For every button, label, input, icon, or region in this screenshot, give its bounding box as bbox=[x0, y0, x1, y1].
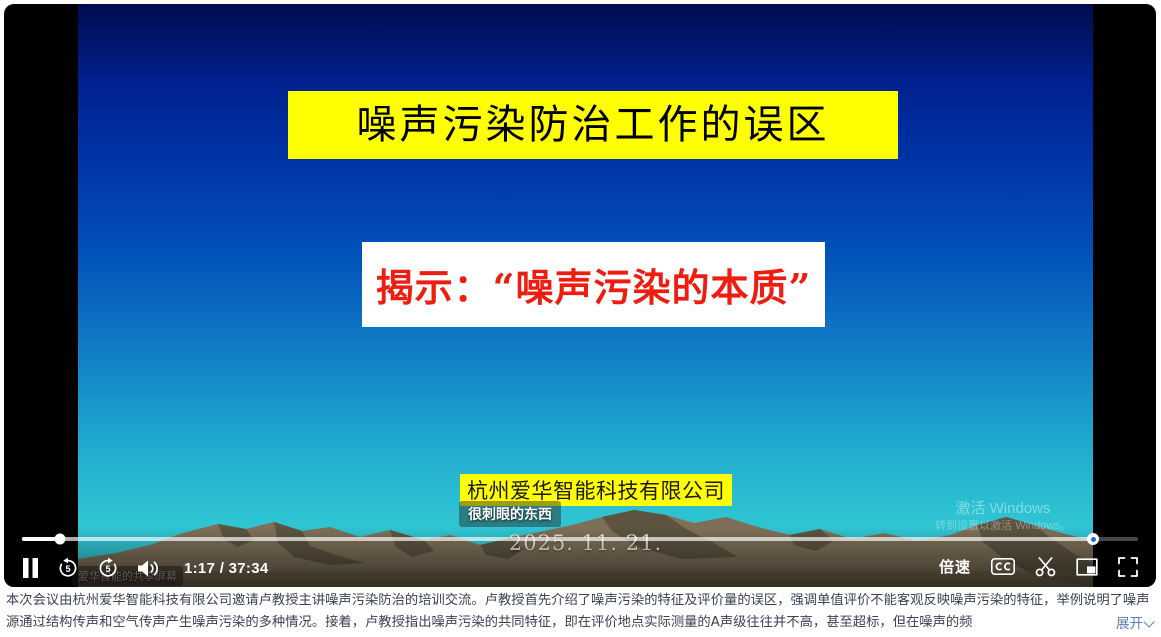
description-text: 本次会议由杭州爱华智能科技有限公司邀请卢教授主讲噪声污染防治的培训交流。卢教授首… bbox=[6, 590, 1155, 634]
volume-icon[interactable] bbox=[137, 559, 160, 578]
playback-speed-button[interactable]: 倍速 bbox=[939, 556, 971, 577]
time-display: 1:17 / 37:34 bbox=[184, 560, 269, 577]
video-page: 噪声污染防治工作的误区 揭示：“噪声污染的本质” 杭州爱华智能科技有限公司 20… bbox=[0, 0, 1161, 637]
progress-bar[interactable] bbox=[22, 533, 1138, 545]
danmaku-comment: 很刺眼的东西 bbox=[459, 501, 561, 527]
controls-left-group: 5 5 1:17 / 37:34 bbox=[22, 557, 269, 579]
video-player[interactable]: 噪声污染防治工作的误区 揭示：“噪声污染的本质” 杭州爱华智能科技有限公司 20… bbox=[4, 4, 1156, 587]
forward-5-button[interactable]: 5 bbox=[97, 557, 119, 579]
chapter-marker[interactable] bbox=[1087, 533, 1099, 545]
slide-title-banner: 噪声污染防治工作的误区 bbox=[288, 91, 898, 159]
scissors-clip-icon[interactable] bbox=[1035, 557, 1056, 577]
video-controls-bar: 5 5 1:17 / 37:34 bbox=[4, 527, 1156, 587]
controls-right-group: 倍速 bbox=[939, 556, 1138, 577]
forward-seconds-label: 5 bbox=[97, 557, 119, 579]
pause-button[interactable] bbox=[22, 558, 39, 578]
video-frame[interactable]: 噪声污染防治工作的误区 揭示：“噪声污染的本质” 杭州爱华智能科技有限公司 20… bbox=[78, 4, 1093, 587]
rewind-5-button[interactable]: 5 bbox=[57, 557, 79, 579]
progress-handle[interactable] bbox=[54, 534, 65, 545]
rewind-seconds-label: 5 bbox=[57, 557, 79, 579]
slide-subtitle-text: 揭示：“噪声污染的本质” bbox=[376, 257, 812, 312]
expand-description-button[interactable]: 展开 bbox=[1100, 613, 1153, 635]
chevron-down-icon bbox=[1143, 616, 1154, 627]
captions-cc-icon[interactable] bbox=[991, 558, 1015, 575]
slide-title-text: 噪声污染防治工作的误区 bbox=[357, 105, 830, 145]
progress-buffered bbox=[22, 537, 1088, 541]
fullscreen-icon[interactable] bbox=[1118, 557, 1138, 577]
expand-label: 展开 bbox=[1116, 613, 1143, 635]
progress-track[interactable] bbox=[22, 537, 1138, 541]
picture-in-picture-icon[interactable] bbox=[1076, 558, 1098, 576]
video-description: 本次会议由杭州爱华智能科技有限公司邀请卢教授主讲噪声污染防治的培训交流。卢教授首… bbox=[0, 590, 1161, 637]
slide-subtitle-box: 揭示：“噪声污染的本质” bbox=[362, 242, 825, 327]
